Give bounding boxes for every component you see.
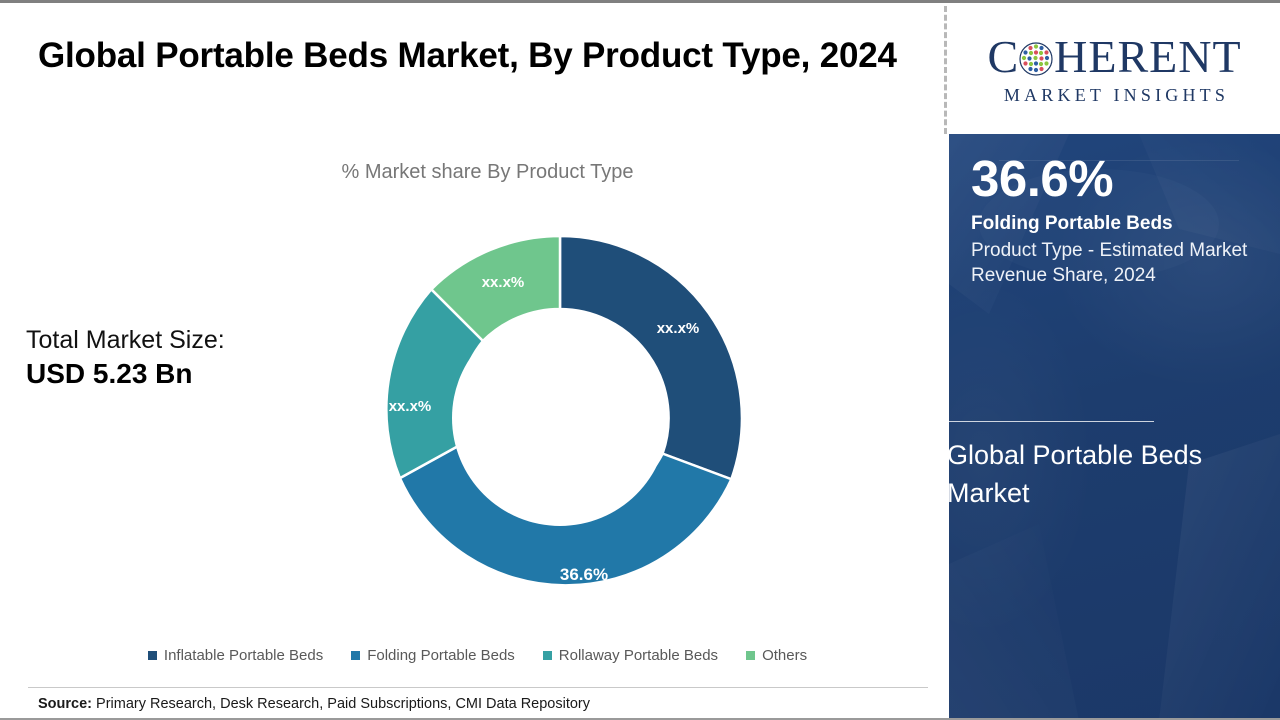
legend-item-folding-portable-beds[interactable]: Folding Portable Beds: [351, 647, 515, 664]
source-prefix: Source:: [38, 696, 92, 712]
legend-swatch-icon: [746, 651, 755, 660]
donut-label-rollaway-portable-beds: xx.x%: [389, 398, 432, 415]
infographic-page: Global Portable Beds Market, By Product …: [0, 0, 1280, 720]
legend-item-rollaway-portable-beds[interactable]: Rollaway Portable Beds: [543, 647, 718, 664]
stat-percentage: 36.6%: [971, 152, 1266, 206]
source-divider: [28, 687, 928, 688]
logo-wordmark: C: [987, 34, 1241, 80]
stat-text-block: 36.6% Folding Portable Beds Product Type…: [971, 152, 1266, 289]
donut-label-folding-portable-beds: 36.6%: [560, 565, 608, 584]
chart-caption: % Market share By Product Type: [0, 161, 945, 184]
panel-horizontal-divider: [949, 421, 1154, 422]
legend-label: Others: [762, 647, 807, 664]
vertical-dashed-divider: [944, 6, 947, 134]
donut-label-inflatable-portable-beds: xx.x%: [657, 320, 700, 337]
page-title: Global Portable Beds Market, By Product …: [38, 31, 898, 82]
source-note: Source: Primary Research, Desk Research,…: [38, 696, 590, 712]
legend-label: Folding Portable Beds: [367, 647, 515, 664]
brand-logo[interactable]: C: [949, 6, 1280, 134]
left-content-pane: Global Portable Beds Market, By Product …: [0, 3, 945, 720]
donut-chart-svg: xx.x% 36.6% xx.x% xx.x%: [378, 236, 742, 600]
stat-segment-name: Folding Portable Beds: [971, 211, 1266, 237]
total-market-size-block: Total Market Size: USD 5.23 Bn: [26, 325, 326, 393]
legend-item-others[interactable]: Others: [746, 647, 807, 664]
logo-letter-c: C: [987, 34, 1018, 80]
logo-wordmark-text: HERENT: [1054, 34, 1241, 80]
total-market-size-value: USD 5.23 Bn: [26, 356, 326, 392]
panel-market-name: Global Portable Beds Market: [949, 436, 1207, 513]
donut-chart: xx.x% 36.6% xx.x% xx.x%: [378, 236, 742, 600]
stat-panel: 36.6% Folding Portable Beds Product Type…: [949, 134, 1280, 720]
total-market-size-label: Total Market Size:: [26, 325, 326, 356]
chart-legend: Inflatable Portable Beds Folding Portabl…: [0, 647, 945, 664]
legend-swatch-icon: [148, 651, 157, 660]
legend-label: Inflatable Portable Beds: [164, 647, 323, 664]
right-sidebar-panel: C: [949, 6, 1280, 720]
donut-hole: [452, 310, 668, 526]
legend-label: Rollaway Portable Beds: [559, 647, 718, 664]
legend-item-inflatable-portable-beds[interactable]: Inflatable Portable Beds: [148, 647, 323, 664]
stat-description: Product Type - Estimated Market Revenue …: [971, 238, 1266, 289]
donut-label-others: xx.x%: [482, 274, 525, 291]
logo-tagline: MARKET INSIGHTS: [1000, 85, 1229, 106]
legend-swatch-icon: [351, 651, 360, 660]
legend-swatch-icon: [543, 651, 552, 660]
source-text: Primary Research, Desk Research, Paid Su…: [92, 696, 590, 712]
globe-dots-icon: [1019, 42, 1053, 76]
